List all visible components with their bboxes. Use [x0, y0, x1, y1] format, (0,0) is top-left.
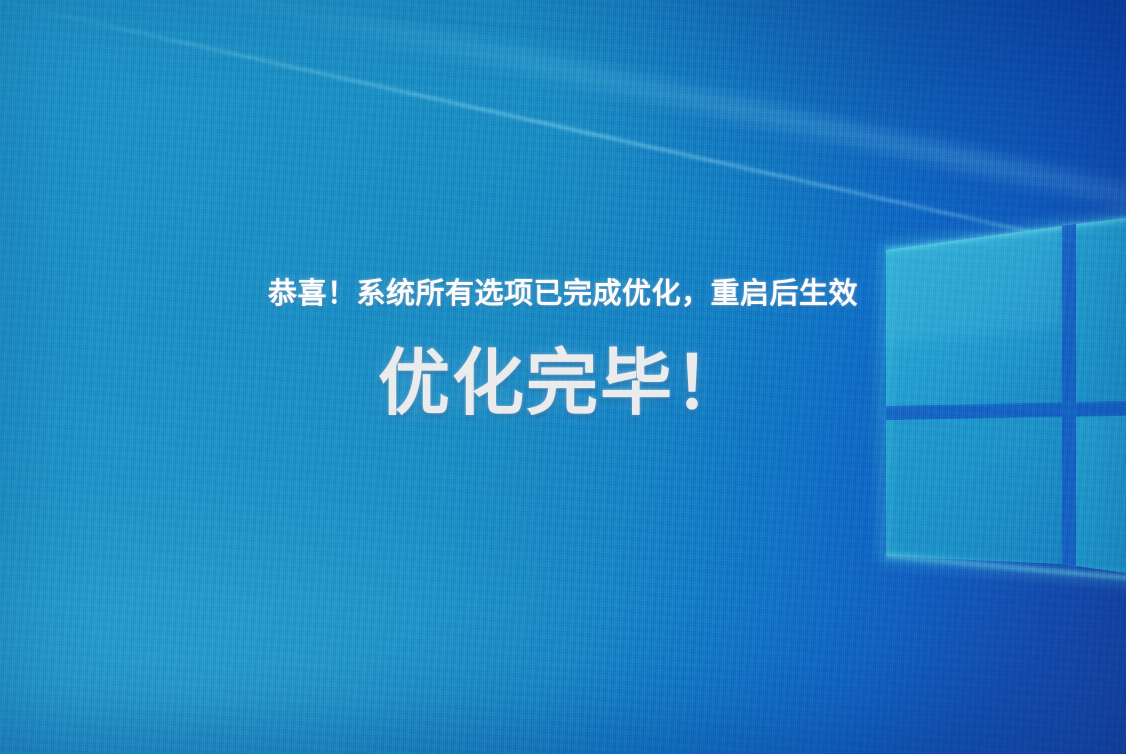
screen-scanlines [0, 0, 1126, 754]
wallpaper-light-streak-glow [145, 0, 1126, 304]
optimization-headline: 恭喜！系统所有选项已完成优化，重启后生效 [0, 276, 1126, 312]
pane-quadrant-bottom-right [1076, 414, 1126, 580]
pane-quadrant-top-right [1076, 212, 1126, 404]
pane-divider-horizontal [886, 400, 1126, 420]
wallpaper-base-gradient [0, 0, 1126, 754]
optimization-complete-title: 优化完毕！ [0, 338, 1126, 430]
pane-quadrant-bottom-left [886, 416, 1062, 564]
photo-vignette [0, 0, 1126, 754]
screen-moire-texture [0, 0, 1126, 754]
pane-divider-vertical [1062, 224, 1076, 568]
monitor-screen: 恭喜！系统所有选项已完成优化，重启后生效 优化完毕！ [0, 0, 1126, 754]
pane-outer-halo [884, 210, 1126, 584]
pane-quadrant-top-left [886, 226, 1062, 408]
screen-pixel-columns [0, 0, 1126, 754]
windows-pane-logo-icon [866, 196, 1126, 608]
pane-interior-sheen [886, 226, 1062, 346]
wallpaper-lower-left-glow [0, 0, 1126, 754]
pane-edge-bottom [886, 556, 1126, 582]
wallpaper-bottom-shade [0, 0, 1126, 754]
wallpaper-top-right-shadow [0, 0, 1126, 754]
